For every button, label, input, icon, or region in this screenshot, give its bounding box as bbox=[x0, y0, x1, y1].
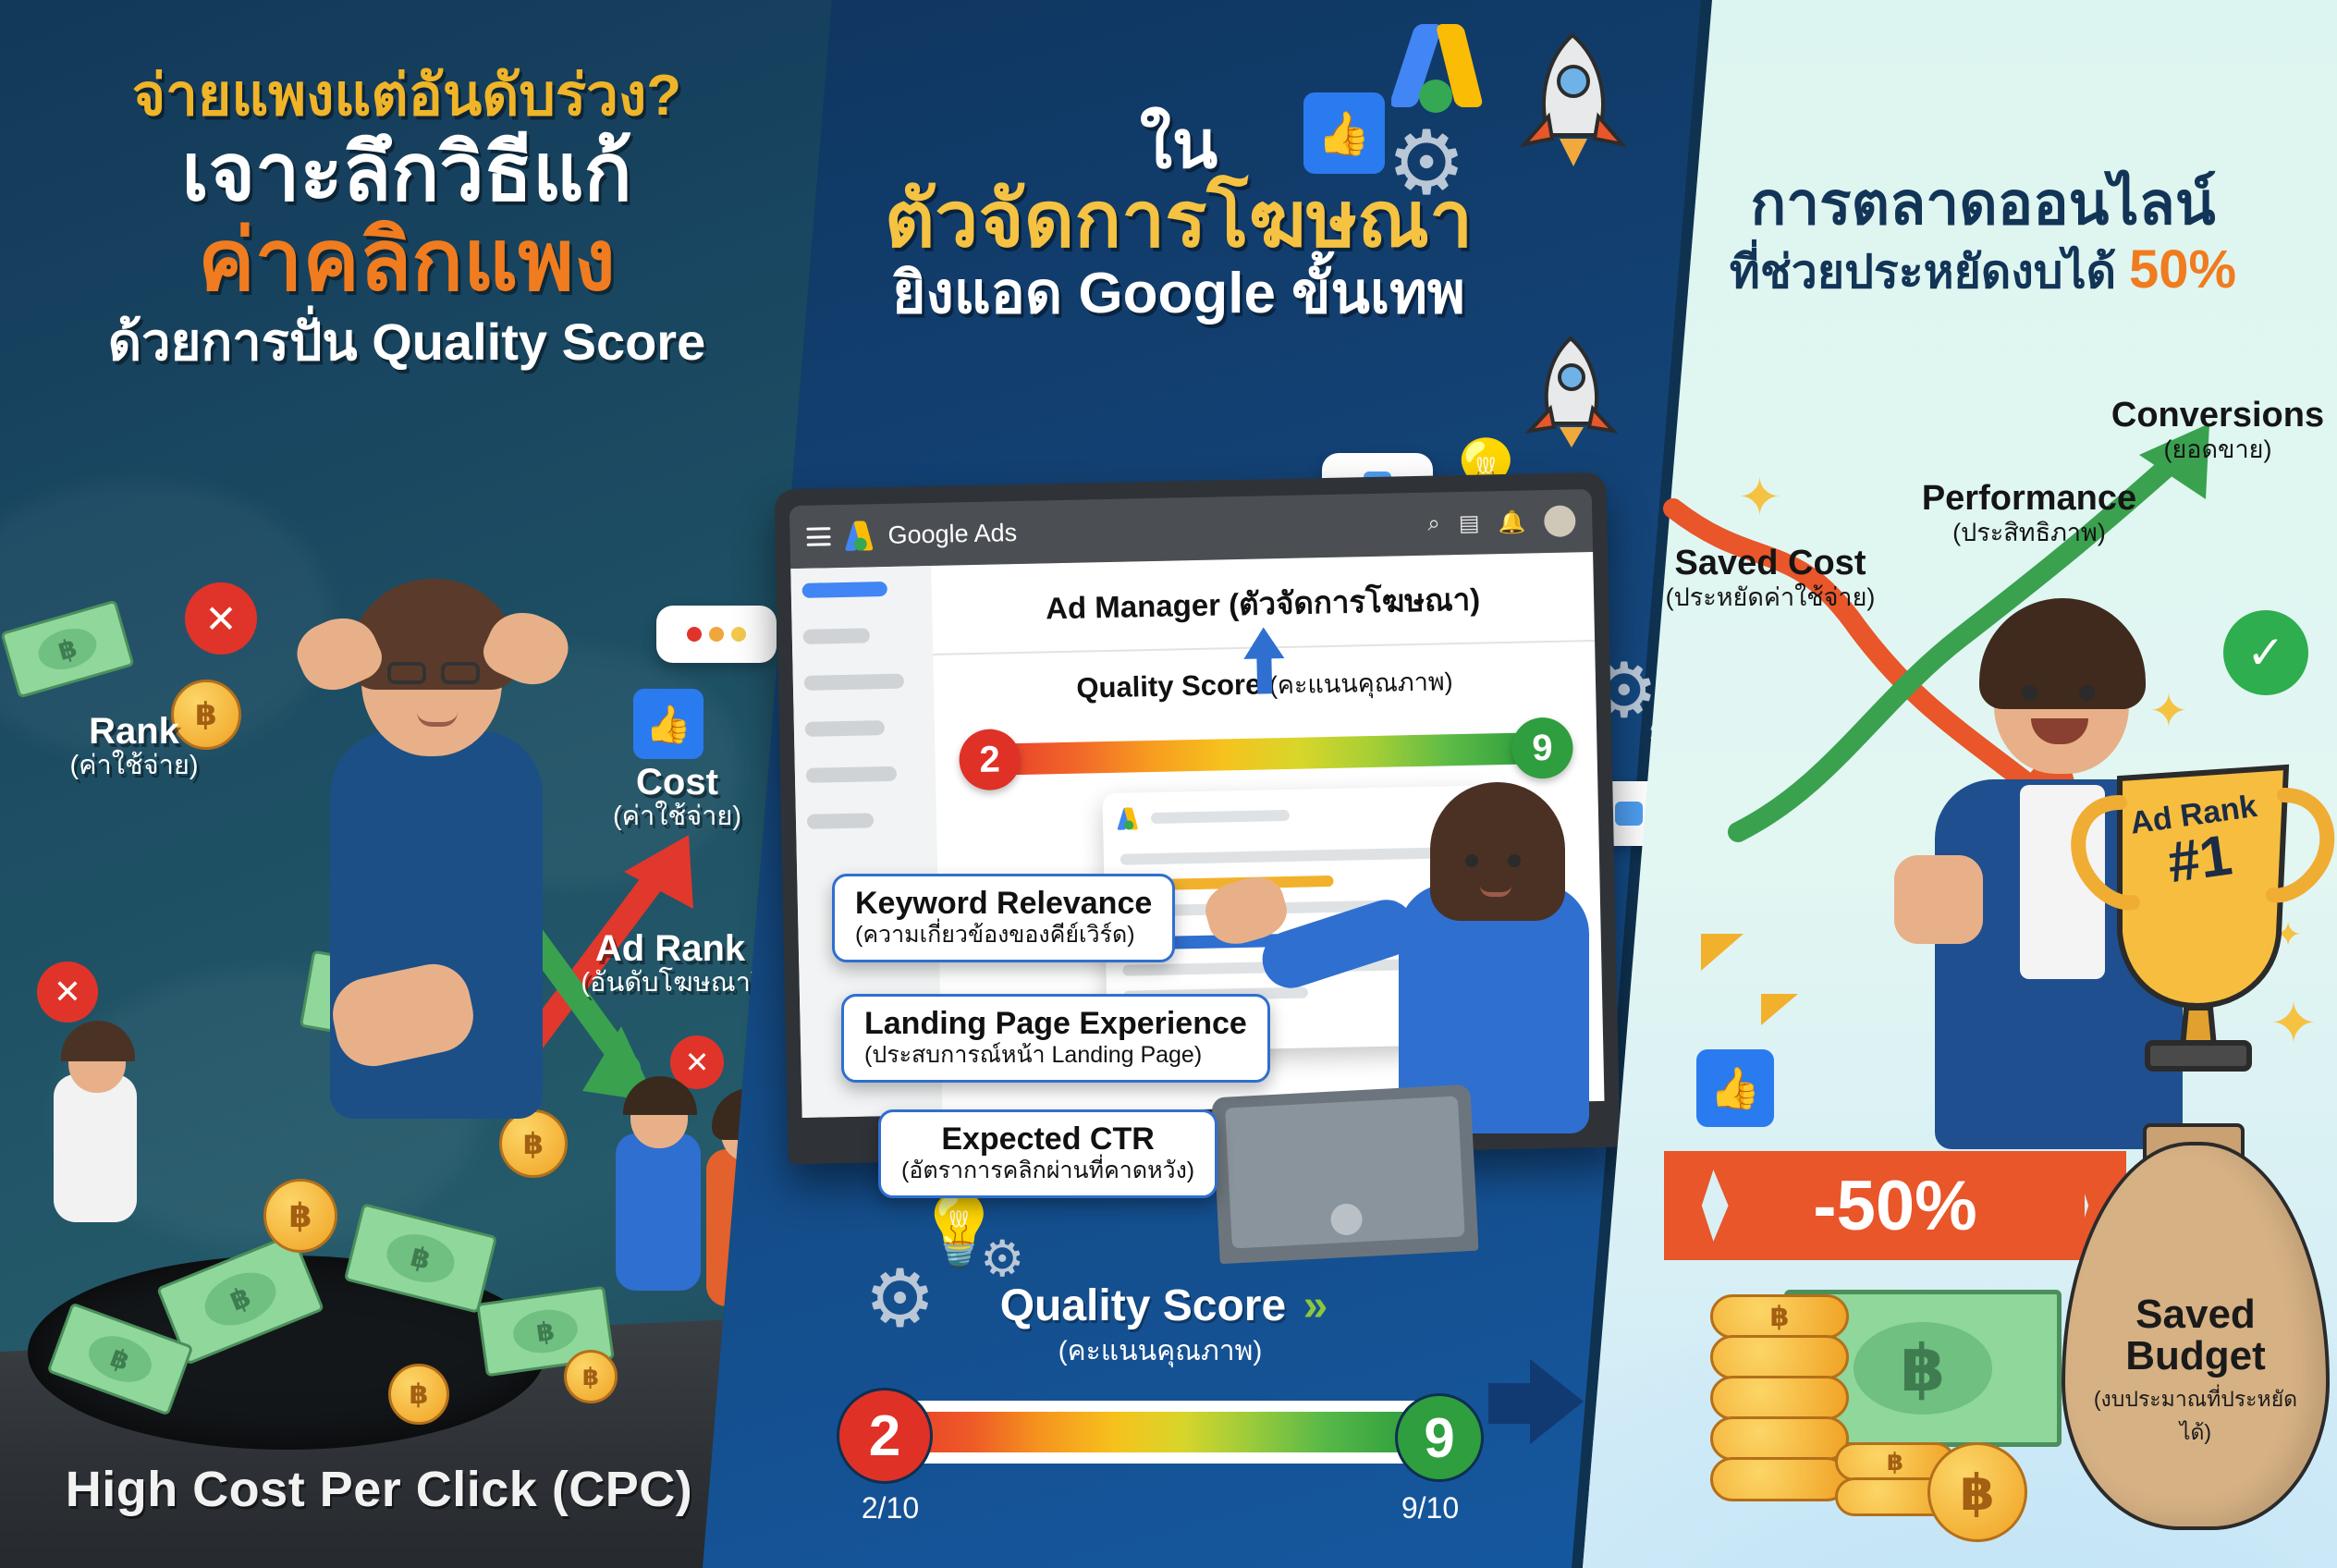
cpc-caption: High Cost Per Click (CPC) bbox=[65, 1461, 693, 1518]
score-high-badge: 9 bbox=[1395, 1393, 1484, 1482]
label-cost-th: (ค่าใช้จ่าย) bbox=[578, 802, 777, 832]
left-headline-line2: เจาะลึกวิธีแก้ bbox=[37, 131, 777, 214]
callout-expected-ctr-en: Expected CTR bbox=[901, 1123, 1194, 1157]
sidebar-item[interactable] bbox=[807, 813, 874, 829]
transition-arrow-icon bbox=[1530, 1359, 1584, 1444]
thumbs-up-icon: 👍 bbox=[1696, 1049, 1774, 1127]
coin-stack-icon bbox=[1710, 1335, 1849, 1379]
right-headline-line1: การตลาดออนไลน์ bbox=[1641, 171, 2325, 236]
right-headline-line2-pre: ที่ช่วยประหยัดงบได้ bbox=[1730, 246, 2129, 298]
callout-landing-page-experience[interactable]: Landing Page Experience (ประสบการณ์หน้า … bbox=[841, 994, 1270, 1083]
gear-icon: ⚙ bbox=[1387, 111, 1466, 214]
saved-budget-en-line1: Saved bbox=[2080, 1294, 2311, 1336]
coin-icon: ฿ bbox=[564, 1350, 618, 1403]
score-low-caption: 2/10 bbox=[846, 1491, 935, 1525]
label-cost: Cost (ค่าใช้จ่าย) bbox=[578, 763, 777, 832]
score-up-arrow-head-icon bbox=[1243, 627, 1285, 659]
thumbs-up-icon: 👍 bbox=[1303, 92, 1385, 174]
label-cost-en: Cost bbox=[578, 763, 777, 802]
label-saved-cost-th: (ประหยัดค่าใช้จ่าย) bbox=[1627, 582, 1914, 612]
sidebar-item[interactable] bbox=[804, 674, 904, 691]
label-performance-en: Performance bbox=[1886, 481, 2172, 518]
left-headline: จ่ายแพงแต่อันดับร่วง? เจาะลึกวิธีแก้ ค่า… bbox=[37, 65, 777, 371]
label-conversions-th: (ยอดขาย) bbox=[2098, 435, 2337, 464]
callout-landing-page-experience-en: Landing Page Experience bbox=[864, 1008, 1247, 1041]
discount-badge: -50% bbox=[1706, 1151, 2085, 1260]
page-title: Ad Manager (ตัวจัดการโฆษณา) bbox=[956, 573, 1571, 635]
label-rank: Rank (ค่าใช้จ่าย) bbox=[28, 712, 240, 781]
callout-keyword-relevance-th: (ความเกี่ยวข้องของคีย์เวิร์ด) bbox=[855, 921, 1152, 949]
coin-stack-icon bbox=[1710, 1457, 1849, 1501]
quality-score-summary: Quality Score » (คะแนนคุณภาพ) 2 9 2/10 9… bbox=[837, 1280, 1484, 1476]
saved-budget-label: Saved Budget (งบประมาณที่ประหยัดได้) bbox=[2080, 1294, 2311, 1450]
infographic-canvas: จ่ายแพงแต่อันดับร่วง? เจาะลึกวิธีแก้ ค่า… bbox=[0, 0, 2337, 1568]
gear-icon: ⚙ bbox=[980, 1230, 1024, 1288]
thumbs-up-icon: 👍 bbox=[633, 689, 704, 759]
label-performance-th: (ประสิทธิภาพ) bbox=[1886, 518, 2172, 547]
chevron-right-icon: » bbox=[1303, 1281, 1321, 1330]
quality-score-heading-th: (คะแนนคุณภาพ) bbox=[837, 1329, 1484, 1373]
triangle-accent-icon bbox=[1701, 934, 1744, 971]
red-x-icon: ✕ bbox=[37, 962, 98, 1023]
sparkle-icon: ✦ bbox=[1738, 467, 1781, 528]
label-conversions-en: Conversions bbox=[2098, 398, 2337, 435]
coin-stack-icon bbox=[1710, 1416, 1849, 1461]
label-rank-th: (ค่าใช้จ่าย) bbox=[28, 751, 240, 781]
google-ads-logo-icon bbox=[1120, 807, 1140, 829]
label-conversions: Conversions (ยอดขาย) bbox=[2098, 398, 2337, 464]
label-rank-en: Rank bbox=[28, 712, 240, 751]
coin-icon: ฿ bbox=[1927, 1442, 2027, 1542]
sidebar-item[interactable] bbox=[803, 628, 870, 644]
menu-icon[interactable] bbox=[806, 527, 830, 546]
left-headline-line1: จ่ายแพงแต่อันดับร่วง? bbox=[37, 65, 777, 128]
quality-score-heading: Quality Score » (คะแนนคุณภาพ) bbox=[837, 1280, 1484, 1373]
sidebar-item[interactable] bbox=[805, 720, 885, 737]
label-saved-cost-en: Saved Cost bbox=[1627, 545, 1914, 582]
right-headline-line2: ที่ช่วยประหยัดงบได้ 50% bbox=[1641, 239, 2325, 301]
google-ads-logo-icon bbox=[847, 521, 875, 551]
callout-landing-page-experience-th: (ประสบการณ์หน้า Landing Page) bbox=[864, 1041, 1247, 1069]
coin-stack-icon bbox=[1710, 1376, 1849, 1420]
feedback-icon[interactable]: ▤ bbox=[1458, 509, 1479, 536]
toolbar-icons: ⌕ ▤ 🔔 bbox=[1427, 505, 1576, 539]
score-low-badge: 2 bbox=[959, 729, 1021, 790]
section-title-th: (คะแนนคุณภาพ) bbox=[1269, 668, 1453, 699]
label-ad-rank-en: Ad Rank bbox=[555, 929, 786, 968]
rocket-icon bbox=[1521, 333, 1618, 448]
score-high-caption: 9/10 bbox=[1384, 1491, 1476, 1525]
green-check-icon: ✓ bbox=[2223, 610, 2308, 695]
sidebar-item-active[interactable] bbox=[802, 582, 887, 598]
rocket-icon bbox=[1511, 28, 1632, 166]
bell-icon[interactable]: 🔔 bbox=[1498, 508, 1525, 536]
app-title: Google Ads bbox=[887, 519, 1017, 550]
saved-budget-th: (งบประมาณที่ประหยัดได้) bbox=[2080, 1383, 2311, 1450]
coin-icon: ฿ bbox=[388, 1364, 449, 1425]
callout-expected-ctr[interactable]: Expected CTR (อัตราการคลิกผ่านที่คาดหวัง… bbox=[878, 1109, 1217, 1198]
left-headline-line4: ด้วยการปั่น Quality Score bbox=[37, 313, 777, 371]
quality-score-heading-en: Quality Score bbox=[1000, 1280, 1286, 1331]
chat-bubble-icon bbox=[656, 606, 777, 663]
score-gradient-track bbox=[1003, 732, 1529, 775]
score-high-badge: 9 bbox=[1511, 717, 1573, 778]
sidebar-item[interactable] bbox=[806, 766, 897, 783]
label-saved-cost: Saved Cost (ประหยัดค่าใช้จ่าย) bbox=[1627, 545, 1914, 612]
label-performance: Performance (ประสิทธิภาพ) bbox=[1886, 481, 2172, 547]
section-title-en: Quality Score bbox=[1076, 668, 1262, 704]
callout-keyword-relevance-en: Keyword Relevance bbox=[855, 888, 1152, 921]
coin-stack-icon: ฿ bbox=[1710, 1294, 1849, 1339]
center-headline-line3: ยิงแอด Google ขั้นเทพ bbox=[814, 263, 1544, 325]
right-headline-percent: 50% bbox=[2129, 239, 2236, 300]
callout-keyword-relevance[interactable]: Keyword Relevance (ความเกี่ยวข้องของคีย์… bbox=[832, 874, 1175, 962]
quality-score-bar: 2 9 2/10 9/10 bbox=[837, 1388, 1484, 1476]
score-low-badge: 2 bbox=[837, 1388, 933, 1484]
left-headline-line3: ค่าคลิกแพง bbox=[37, 216, 777, 306]
card-title-placeholder bbox=[1151, 810, 1290, 824]
stressed-woman-illustration bbox=[245, 573, 596, 1304]
callout-expected-ctr-th: (อัตราการคลิกผ่านที่คาดหวัง) bbox=[901, 1157, 1194, 1184]
laptop-device-illustration bbox=[1211, 1084, 1478, 1264]
bystander-illustration bbox=[20, 1017, 168, 1248]
search-icon[interactable]: ⌕ bbox=[1427, 510, 1440, 536]
saved-budget-en-line2: Budget bbox=[2080, 1336, 2311, 1378]
google-ads-logo-icon bbox=[1391, 18, 1493, 120]
right-headline: การตลาดออนไลน์ ที่ช่วยประหยัดงบได้ 50% bbox=[1641, 171, 2325, 301]
triangle-accent-icon bbox=[1761, 994, 1798, 1025]
score-gradient-fill bbox=[901, 1412, 1413, 1452]
score-up-arrow-icon bbox=[1256, 655, 1272, 693]
avatar[interactable] bbox=[1544, 505, 1576, 537]
